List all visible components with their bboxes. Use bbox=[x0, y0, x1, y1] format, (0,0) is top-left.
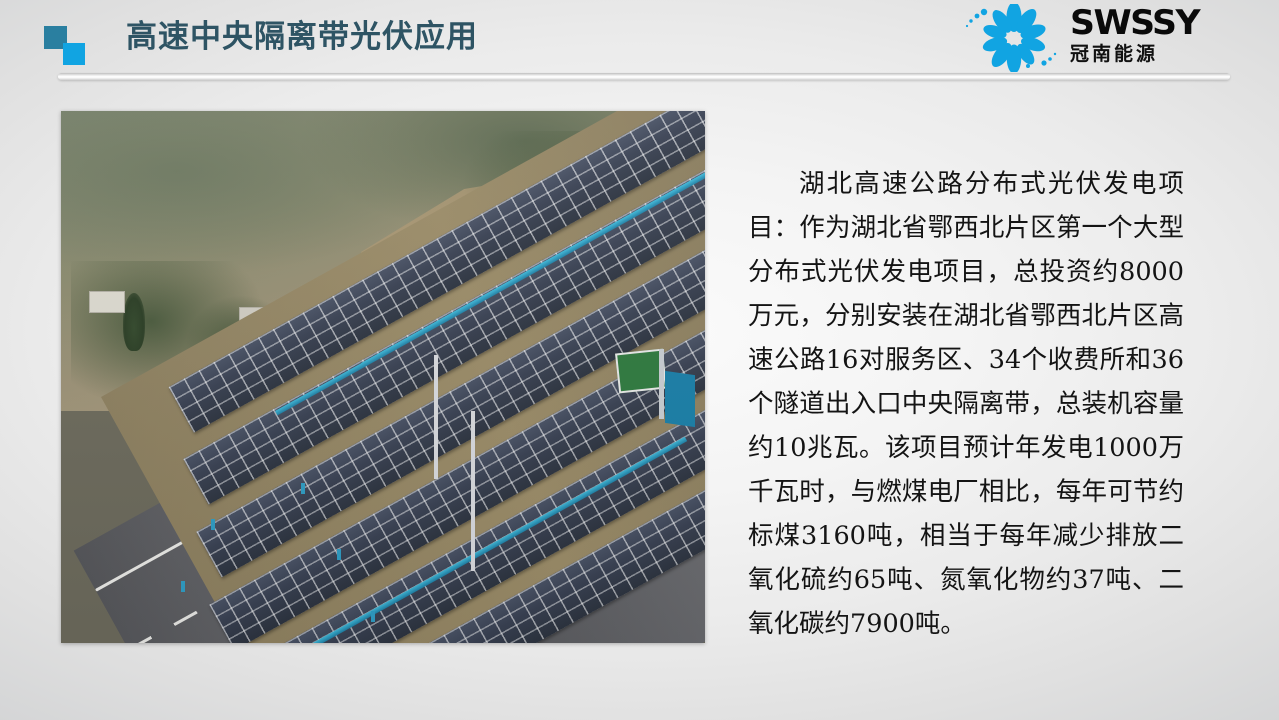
photo-lamp-post bbox=[471, 411, 475, 571]
photo-guardrail-post bbox=[211, 519, 215, 530]
photo-guardrail-post bbox=[301, 483, 305, 494]
slide-header: 高速中央隔离带光伏应用 bbox=[0, 0, 1279, 78]
photo-guardrail-post bbox=[337, 549, 341, 560]
photo-road-sign-blue bbox=[665, 371, 695, 427]
project-description-paragraph: 湖北高速公路分布式光伏发电项目：作为湖北省鄂西北片区第一个大型分布式光伏发电项目… bbox=[748, 162, 1184, 646]
decoration-square-light-icon bbox=[63, 43, 85, 65]
swssy-droplet-flower-logo-icon bbox=[958, 4, 1070, 72]
page-title: 高速中央隔离带光伏应用 bbox=[126, 15, 478, 59]
photo-lamp-post bbox=[434, 355, 438, 479]
photo-tree bbox=[123, 293, 145, 351]
logo-text-block: SWSSY 冠南能源 bbox=[1070, 5, 1250, 68]
company-logo: SWSSY 冠南能源 bbox=[958, 2, 1258, 72]
photo-building bbox=[89, 291, 125, 313]
slide-canvas: 高速中央隔离带光伏应用 bbox=[0, 0, 1279, 720]
logo-wordmark: SWSSY bbox=[1070, 5, 1254, 41]
photo-guardrail-post bbox=[181, 581, 185, 592]
photo-sign-pole bbox=[659, 349, 664, 419]
photo-guardrail-post bbox=[371, 611, 375, 622]
header-divider bbox=[58, 73, 1230, 80]
project-photo bbox=[61, 111, 705, 643]
logo-subtext: 冠南能源 bbox=[1070, 42, 1250, 68]
